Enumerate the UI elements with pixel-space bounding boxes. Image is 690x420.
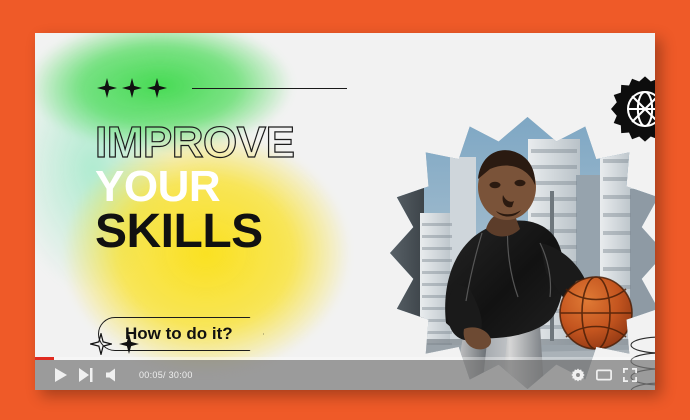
progress-fill — [35, 357, 54, 360]
headline-block: IMPROVE YOUR SKILLS — [95, 123, 395, 254]
next-button[interactable] — [73, 362, 99, 388]
star-outline-icon — [90, 333, 112, 355]
headline-line-skills: SKILLS — [95, 210, 395, 254]
settings-button[interactable] — [565, 362, 591, 388]
video-control-bar: 00:05/ 30:00 — [35, 360, 655, 390]
fullscreen-button[interactable] — [617, 362, 643, 388]
miniplayer-button[interactable] — [591, 362, 617, 388]
star-filled-icon — [119, 334, 139, 354]
next-track-icon — [79, 368, 93, 382]
star-filled-icon — [122, 78, 142, 98]
sparkle-decoration-top — [97, 78, 347, 98]
miniplayer-icon — [596, 368, 612, 382]
headline-line-improve: IMPROVE — [95, 123, 395, 163]
athlete-photo-frame — [390, 117, 655, 389]
basketball-player-photo — [390, 117, 655, 389]
athlete-photo-clip — [390, 117, 655, 389]
screenshot-root: IMPROVE YOUR SKILLS How to do it? — [0, 0, 690, 420]
progress-scrubber[interactable] — [35, 357, 655, 360]
sparkle-decoration-bottom — [90, 333, 139, 355]
play-icon — [54, 368, 67, 382]
video-player-card: IMPROVE YOUR SKILLS How to do it? — [35, 33, 655, 390]
play-button[interactable] — [47, 362, 73, 388]
fullscreen-icon — [623, 368, 637, 382]
volume-button[interactable] — [99, 362, 125, 388]
volume-icon — [105, 368, 119, 382]
horizontal-rule — [192, 88, 347, 89]
star-filled-icon — [97, 78, 117, 98]
star-filled-icon — [147, 78, 167, 98]
gear-icon — [571, 368, 585, 382]
headline-line-your: YOUR — [95, 167, 395, 207]
cta-label: How to do it? — [125, 324, 233, 344]
time-display: 00:05/ 30:00 — [139, 370, 193, 380]
